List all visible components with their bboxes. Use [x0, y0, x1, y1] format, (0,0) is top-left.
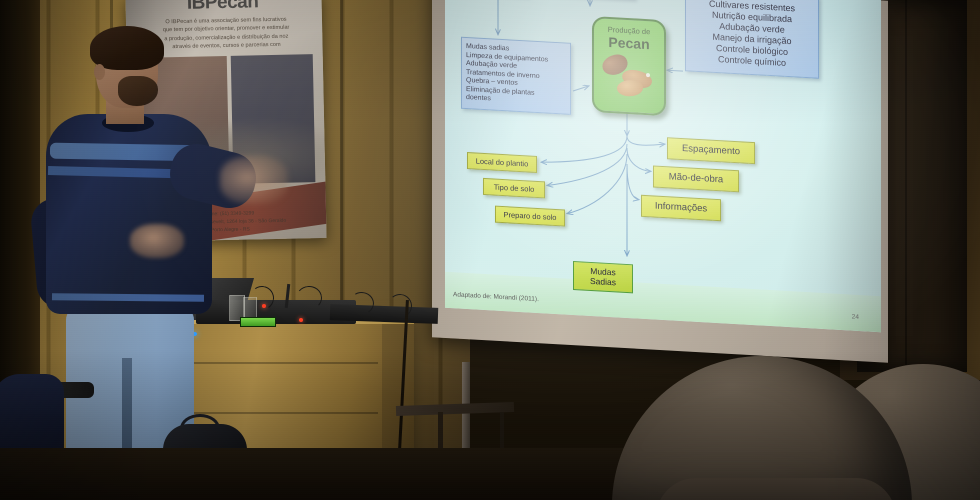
photo-scene: IBPecan O IBPecan é uma associação sem f…	[0, 0, 980, 500]
curtain-seam	[905, 0, 907, 372]
slide-number: 24	[852, 314, 859, 321]
projection-screen: Eliminação ou redução do inóculo inicial…	[432, 0, 888, 360]
slide-box-tipo-de-solo: Tipo de solo	[483, 178, 545, 199]
presenter-gesturing-hand	[220, 156, 288, 204]
pecan-nuts-image	[600, 50, 658, 99]
presenter-ear	[94, 64, 105, 80]
presentation-slide: Eliminação ou redução do inóculo inicial…	[445, 0, 881, 332]
slide-box-praticas-culturais: Mudas sadias Limpeza de equipamentos Adu…	[461, 37, 571, 115]
armchair-seat	[656, 478, 896, 500]
floor-shadow	[0, 448, 660, 500]
equipment-lcd-display	[240, 317, 276, 327]
slide-box-informacoes: Informações	[641, 195, 721, 221]
presenter-left-hand	[130, 224, 184, 258]
pecan-card-word: Pecan	[608, 35, 649, 51]
slide-box-manejo: Cultivares resistentes Nutrição equilibr…	[685, 0, 819, 79]
pecan-nut-icon	[616, 80, 644, 97]
slide-center-pecan-card: Produção de Pecan	[592, 16, 666, 116]
power-led-indicator	[299, 318, 303, 322]
pecan-highlight	[646, 73, 650, 77]
slide-box-mudas-sadias: Mudas Sadias	[573, 261, 633, 293]
presenter-beard	[118, 76, 158, 106]
screen-surface: Eliminação ou redução do inóculo inicial…	[445, 0, 881, 332]
